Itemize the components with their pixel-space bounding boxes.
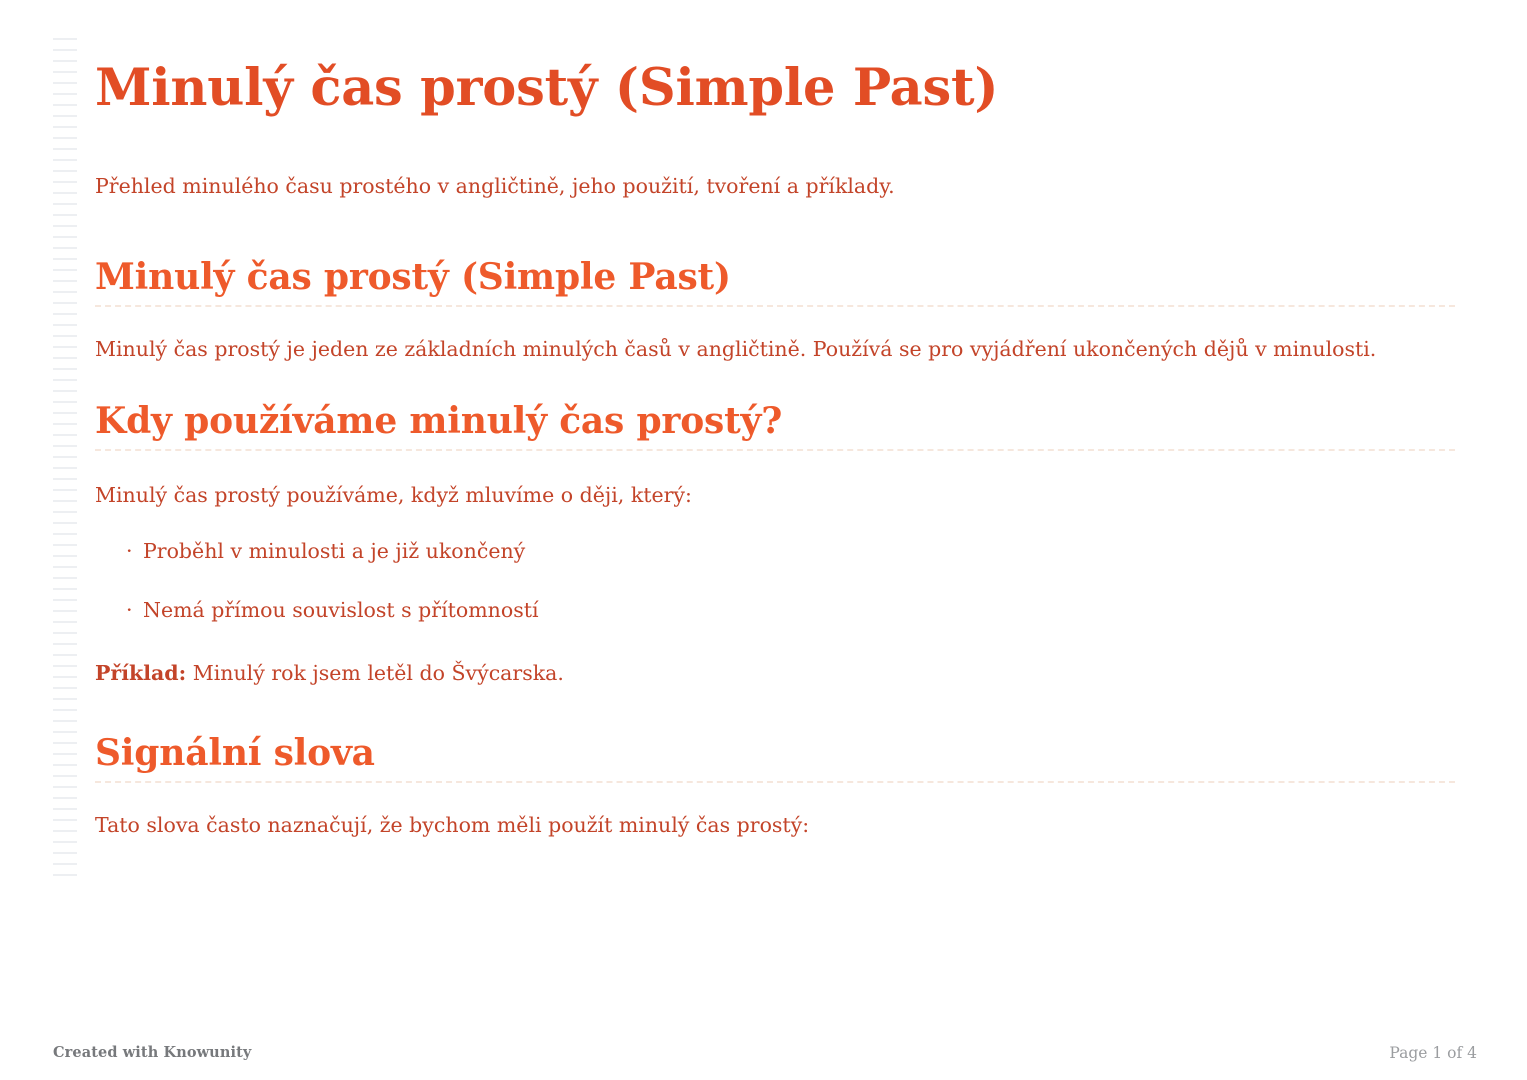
section-1-heading: Minulý čas prostý (Simple Past) <box>95 258 1457 297</box>
spacer <box>95 566 1457 596</box>
document-content: Minulý čas prostý (Simple Past) Přehled … <box>95 0 1457 840</box>
spacer <box>95 364 1457 402</box>
spacer <box>95 200 1457 258</box>
section-3-paragraph: Tato slova často naznačují, že bychom mě… <box>95 811 1457 840</box>
spacer <box>95 625 1457 659</box>
bullet-dot-icon: · <box>126 596 133 625</box>
section-2: Kdy používáme minulý čas prostý? <box>95 402 1457 451</box>
spacer <box>95 510 1457 537</box>
spacer <box>95 451 1457 481</box>
document-page: Minulý čas prostý (Simple Past) Přehled … <box>0 0 1527 1080</box>
spacer <box>95 307 1457 335</box>
example-text: Minulý rok jsem letěl do Švýcarska. <box>193 661 564 685</box>
section-3: Signální slova <box>95 734 1457 783</box>
list-item-label: Nemá přímou souvislost s přítomností <box>126 596 539 625</box>
section-1-paragraph: Minulý čas prostý je jeden ze základních… <box>95 335 1457 364</box>
bullet-dot-icon: · <box>126 537 133 566</box>
section-3-heading: Signální slova <box>95 734 1457 773</box>
footer-page-number: Page 1 of 4 <box>1389 1044 1477 1062</box>
document-subtitle: Přehled minulého času prostého v angličt… <box>95 116 1457 201</box>
spacer <box>95 688 1457 734</box>
spacer <box>95 783 1457 811</box>
footer-credit: Created with Knowunity <box>53 1044 251 1061</box>
section-2-bullet-list: · Proběhl v minulosti a je již ukončený … <box>95 537 1457 624</box>
list-item-label: Proběhl v minulosti a je již ukončený <box>126 537 525 566</box>
page-title: Minulý čas prostý (Simple Past) <box>95 0 1457 116</box>
section-2-paragraph: Minulý čas prostý používáme, když mluvím… <box>95 481 1457 510</box>
section-2-example: Příklad: Minulý rok jsem letěl do Švýcar… <box>95 659 1457 688</box>
section-2-heading: Kdy používáme minulý čas prostý? <box>95 402 1457 441</box>
list-item: · Nemá přímou souvislost s přítomností <box>95 596 1457 625</box>
margin-ruled-lines-decoration <box>53 38 77 883</box>
example-label: Příklad: <box>95 661 186 685</box>
list-item: · Proběhl v minulosti a je již ukončený <box>95 537 1457 566</box>
section-1: Minulý čas prostý (Simple Past) <box>95 258 1457 307</box>
